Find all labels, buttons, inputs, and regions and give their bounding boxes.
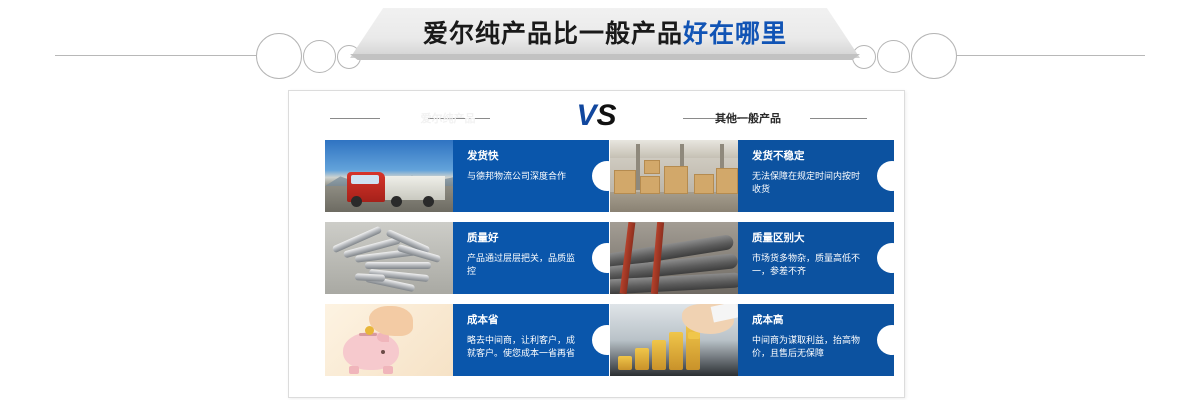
decor-circle-right-large xyxy=(911,33,957,79)
card-desc: 与德邦物流公司深度合作 xyxy=(467,170,579,183)
card-title: 质量好 xyxy=(467,233,579,244)
card-title: 成本省 xyxy=(467,315,579,326)
title-banner-shadow xyxy=(350,54,860,60)
card-item[interactable]: 质量好 产品通过层层把关，品质监控 xyxy=(325,222,609,294)
notch-circle xyxy=(592,325,609,355)
header-line-left xyxy=(55,55,270,56)
pipes-image xyxy=(610,222,738,294)
card-desc: 市场货多物杂，质量高低不一，参差不齐 xyxy=(752,252,864,278)
card-body: 质量好 产品通过层层把关，品质监控 xyxy=(453,222,609,294)
decor-circle-right-medium xyxy=(877,40,910,73)
decor-circle-left-medium xyxy=(303,40,336,73)
page-title-highlight: 好在哪里 xyxy=(683,14,787,50)
page-title: 爱尔纯产品比一般产品好在哪里 xyxy=(350,12,860,52)
left-cards-column: 发货快 与德邦物流公司深度合作 质量好 产品通过层层把关，品质监控 xyxy=(325,140,609,386)
steel-tubes-image xyxy=(325,222,453,294)
header-line-right xyxy=(930,55,1145,56)
card-title: 发货快 xyxy=(467,151,579,162)
card-body: 成本高 中间商为谋取利益，抬高物价，且售后无保障 xyxy=(738,304,894,376)
card-body: 发货不稳定 无法保障在规定时间内按时收货 xyxy=(738,140,894,212)
card-item[interactable]: 发货不稳定 无法保障在规定时间内按时收货 xyxy=(610,140,894,212)
card-body: 成本省 略去中间商，让利客户，成就客户。使您成本一省再省 xyxy=(453,304,609,376)
vs-letter-s: S xyxy=(597,101,617,131)
card-title: 发货不稳定 xyxy=(752,151,864,162)
notch-circle xyxy=(877,161,894,191)
gold-coins-image xyxy=(610,304,738,376)
card-desc: 无法保障在规定时间内按时收货 xyxy=(752,170,864,196)
card-desc: 中间商为谋取利益，抬高物价，且售后无保障 xyxy=(752,334,864,360)
notch-circle xyxy=(877,243,894,273)
comparison-header-row: 爱尔纯产品 VS 其他一般产品 xyxy=(288,96,905,136)
decor-circle-left-large xyxy=(256,33,302,79)
piggy-bank-image xyxy=(325,304,453,376)
card-item[interactable]: 质量区别大 市场货多物杂，质量高低不一，参差不齐 xyxy=(610,222,894,294)
vs-letter-v: V xyxy=(576,101,596,131)
notch-circle xyxy=(592,243,609,273)
card-body: 发货快 与德邦物流公司深度合作 xyxy=(453,140,609,212)
card-body: 质量区别大 市场货多物杂，质量高低不一，参差不齐 xyxy=(738,222,894,294)
divider-right-outer xyxy=(810,118,867,119)
comparison-infographic: 爱尔纯产品比一般产品好在哪里 爱尔纯产品 VS 其他一般产品 xyxy=(0,0,1200,400)
card-desc: 略去中间商，让利客户，成就客户。使您成本一省再省 xyxy=(467,334,579,360)
card-item[interactable]: 成本省 略去中间商，让利客户，成就客户。使您成本一省再省 xyxy=(325,304,609,376)
notch-circle xyxy=(877,325,894,355)
truck-image xyxy=(325,140,453,212)
notch-circle xyxy=(592,161,609,191)
warehouse-image xyxy=(610,140,738,212)
card-item[interactable]: 发货快 与德邦物流公司深度合作 xyxy=(325,140,609,212)
cards-area: 发货快 与德邦物流公司深度合作 质量好 产品通过层层把关，品质监控 xyxy=(288,140,905,390)
card-item[interactable]: 成本高 中间商为谋取利益，抬高物价，且售后无保障 xyxy=(610,304,894,376)
right-cards-column: 发货不稳定 无法保障在规定时间内按时收货 质量区别大 市场货多物杂，质量高低不一… xyxy=(610,140,894,386)
card-title: 成本高 xyxy=(752,315,864,326)
card-title: 质量区别大 xyxy=(752,233,864,244)
card-desc: 产品通过层层把关，品质监控 xyxy=(467,252,579,278)
page-title-plain: 爱尔纯产品比一般产品 xyxy=(423,14,683,50)
page-header: 爱尔纯产品比一般产品好在哪里 xyxy=(0,0,1200,82)
